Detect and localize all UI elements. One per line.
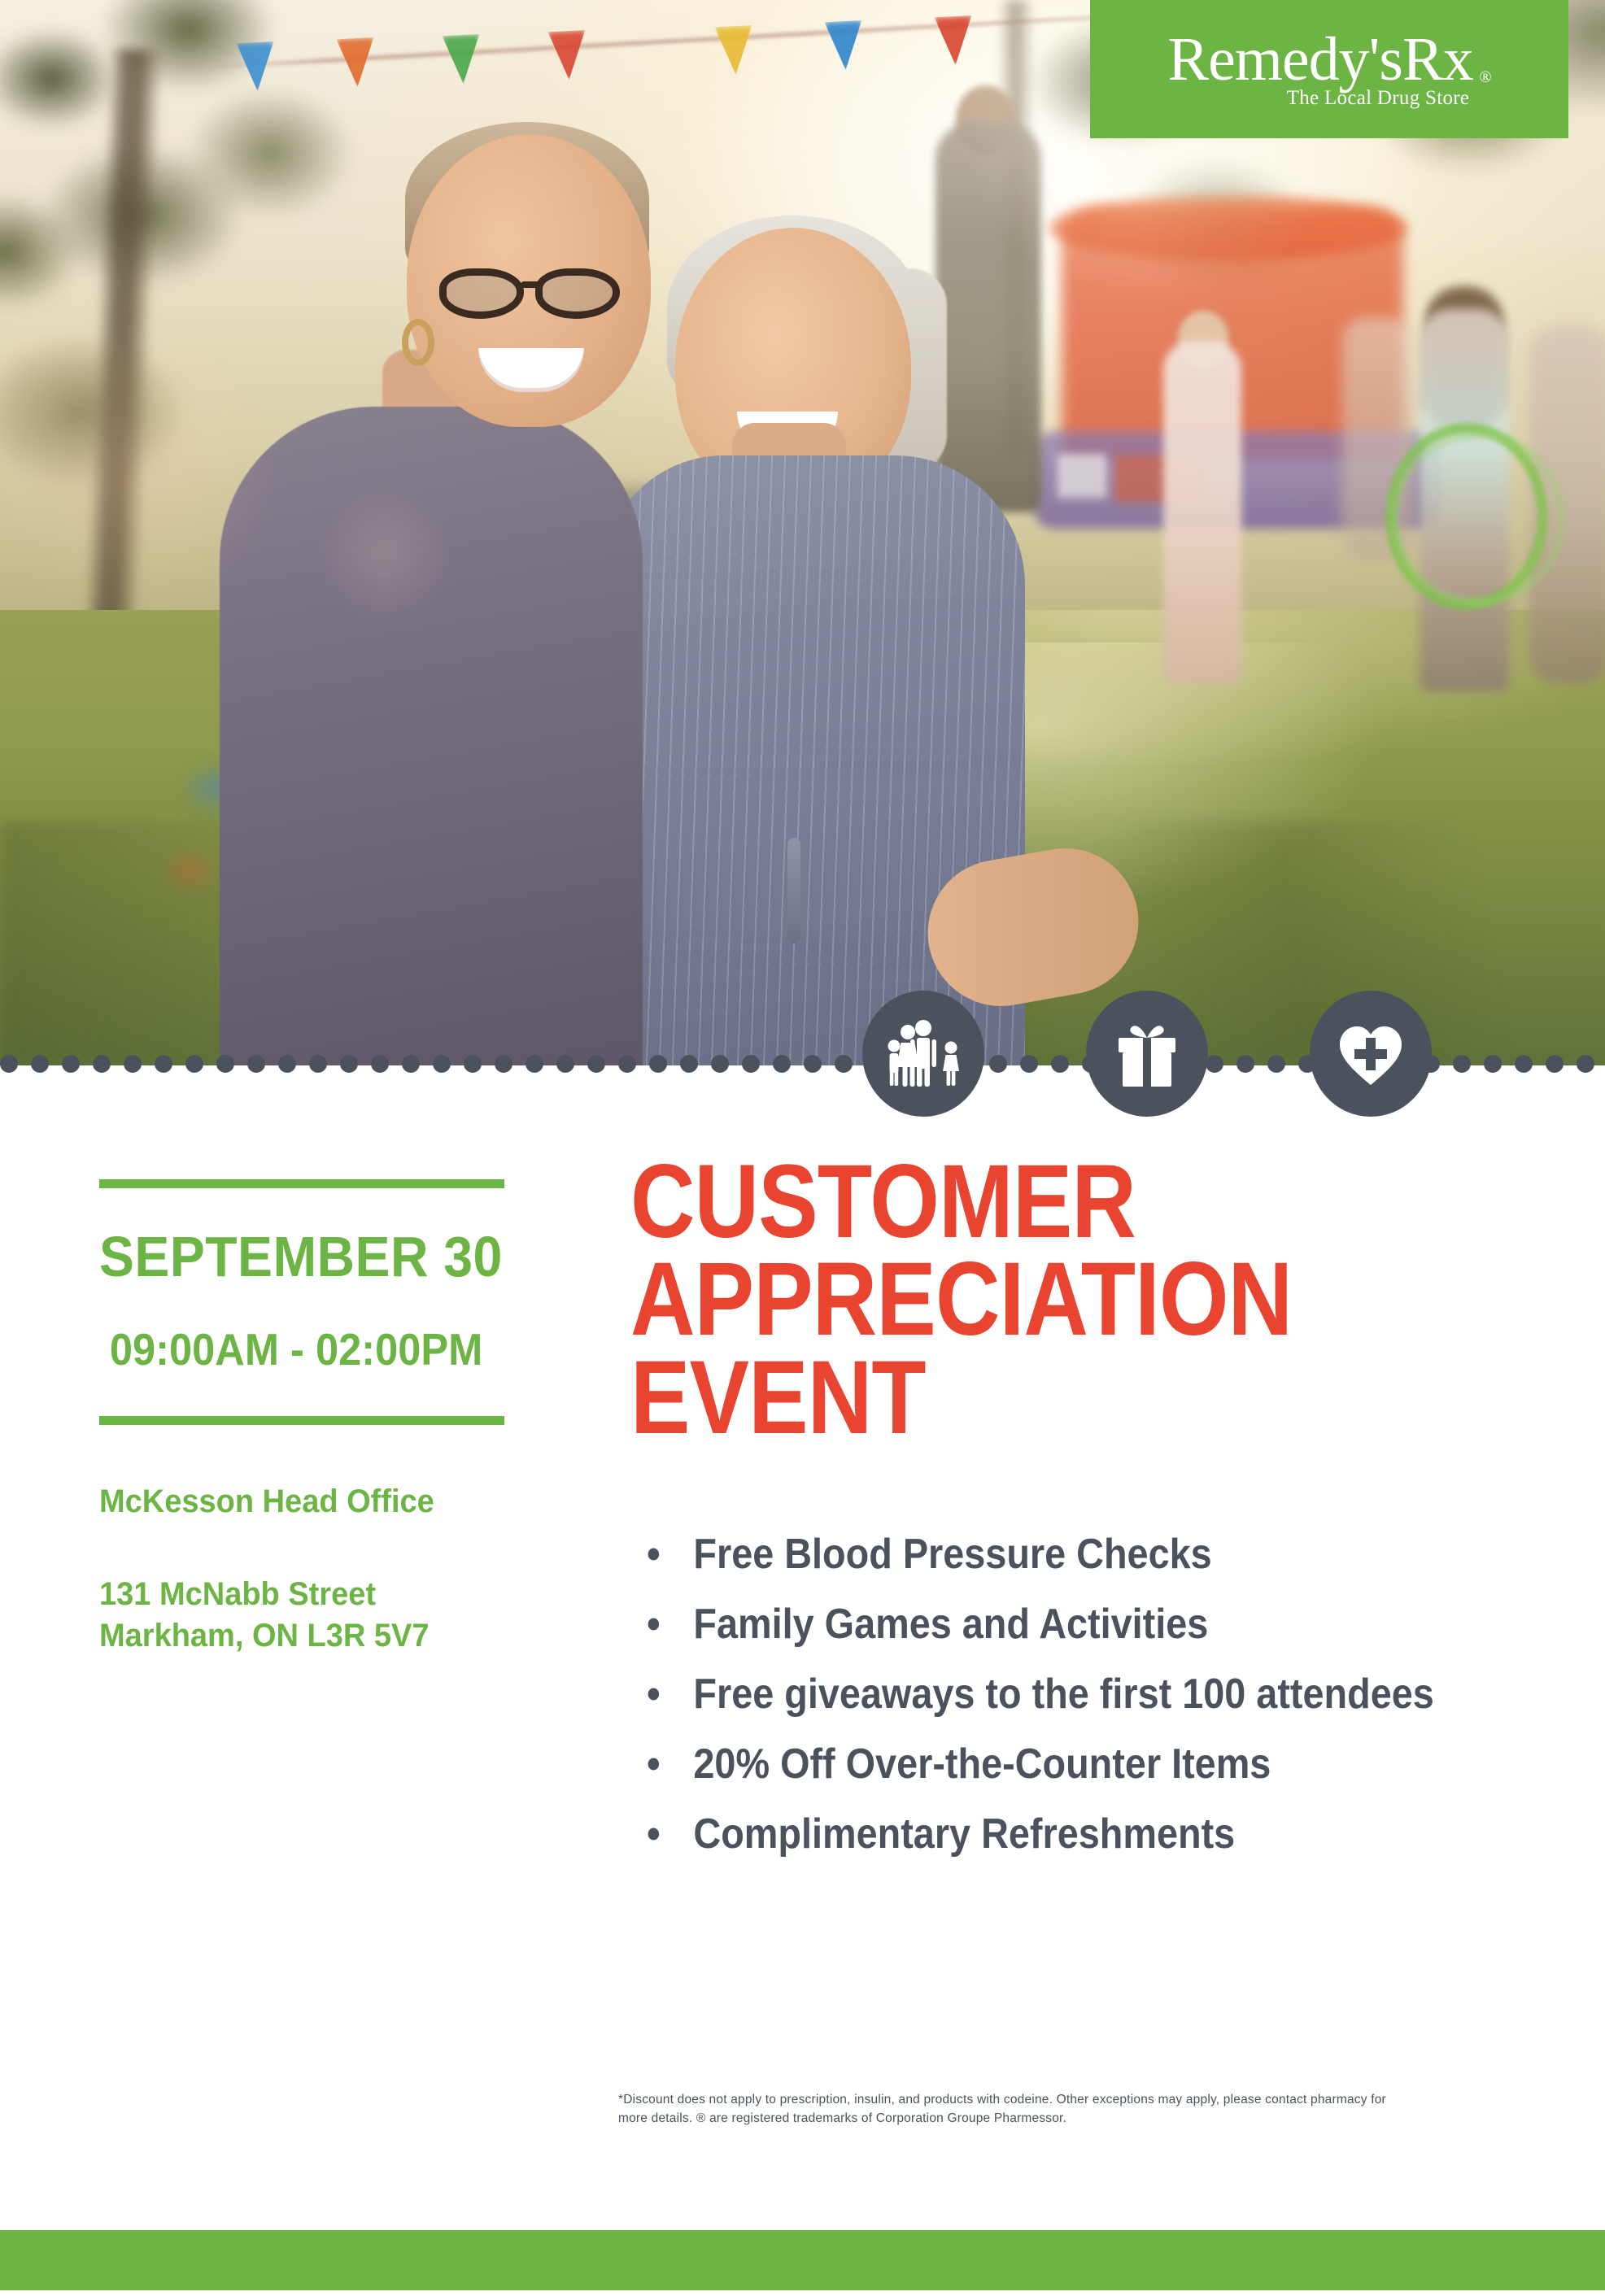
event-venue: McKesson Head Office — [99, 1483, 501, 1520]
list-item: Family Games and Activities — [630, 1603, 1436, 1645]
event-details-column: SEPTEMBER 30 09:00AM - 02:00PM McKesson … — [99, 1179, 522, 1657]
background-person-man — [936, 122, 1041, 512]
event-date: SEPTEMBER 30 — [99, 1224, 488, 1289]
divider-dot — [124, 1055, 142, 1073]
divider-dot — [1484, 1055, 1502, 1073]
blouse-tassel — [787, 838, 800, 943]
address-line-2: Markham, ON L3R 5V7 — [99, 1615, 501, 1657]
divider-dot — [340, 1055, 358, 1073]
headline-line-3: EVENT — [630, 1349, 1400, 1447]
divider-dot — [587, 1055, 605, 1073]
hoop-earring — [402, 319, 434, 366]
rule-top — [99, 1179, 504, 1188]
divider-dot — [526, 1055, 543, 1073]
list-item: Complimentary Refreshments — [630, 1813, 1436, 1855]
registered-trademark-icon: ® — [1479, 69, 1490, 85]
divider-dot — [0, 1055, 18, 1073]
divider-dot — [680, 1055, 698, 1073]
divider-dot — [278, 1055, 296, 1073]
legal-disclaimer: *Discount does not apply to prescription… — [618, 2090, 1399, 2128]
heart-plus-icon — [1310, 991, 1432, 1117]
divider-dot — [309, 1055, 327, 1073]
eyeglasses-icon — [439, 268, 643, 319]
family-icon — [862, 991, 984, 1117]
lens-flare-ring — [1391, 431, 1566, 606]
brand-logo-name: Remedy'sRx — [1167, 25, 1472, 94]
page-title: CUSTOMER APPRECIATION EVENT — [630, 1153, 1400, 1447]
divider-dot — [31, 1055, 49, 1073]
divider-dot — [495, 1055, 512, 1073]
footer-bar — [0, 2230, 1605, 2290]
divider-dot — [402, 1055, 420, 1073]
event-poster: Remedy'sRx® The Local Drug Store — [0, 0, 1605, 2296]
divider-dot — [742, 1055, 760, 1073]
address-line-1: 131 McNabb Street — [99, 1574, 501, 1615]
event-time: 09:00AM - 02:00PM — [99, 1323, 488, 1375]
feature-icon-row — [862, 991, 1432, 1129]
list-item: 20% Off Over-the-Counter Items — [630, 1743, 1436, 1785]
divider-dot — [1453, 1055, 1471, 1073]
event-headline-column: CUSTOMER APPRECIATION EVENT Free Blood P… — [630, 1153, 1525, 1883]
bounce-house-panel-white — [1058, 454, 1106, 498]
divider-dot — [93, 1055, 111, 1073]
woman-left-body — [220, 407, 643, 1065]
eyeglasses-lens-right — [535, 268, 620, 319]
background-person-girl — [1163, 342, 1241, 683]
eyeglasses-lens-left — [439, 268, 524, 319]
divider-dot — [464, 1055, 482, 1073]
brand-logo-wordmark: Remedy'sRx® — [1167, 28, 1490, 90]
list-item: Free giveaways to the first 100 attendee… — [630, 1673, 1436, 1715]
divider-dot — [649, 1055, 667, 1073]
divider-dot — [1546, 1055, 1564, 1073]
brand-logo: Remedy'sRx® The Local Drug Store — [1090, 0, 1568, 138]
divider-dot — [185, 1055, 203, 1073]
divider-dot — [62, 1055, 80, 1073]
divider-dot — [433, 1055, 451, 1073]
hero-photo — [0, 0, 1605, 1065]
divider-dot — [247, 1055, 265, 1073]
list-item: Free Blood Pressure Checks — [630, 1533, 1436, 1575]
poster-body: SEPTEMBER 30 09:00AM - 02:00PM McKesson … — [0, 1082, 1605, 2296]
event-features-list: Free Blood Pressure Checks Family Games … — [630, 1533, 1525, 1855]
divider-dot — [773, 1055, 791, 1073]
gift-icon — [1086, 991, 1208, 1117]
event-address: 131 McNabb Street Markham, ON L3R 5V7 — [99, 1574, 501, 1657]
divider-dot — [155, 1055, 172, 1073]
divider-dot — [711, 1055, 729, 1073]
headline-line-1: CUSTOMER — [630, 1153, 1400, 1251]
divider-dot — [804, 1055, 822, 1073]
divider-dot — [1577, 1055, 1594, 1073]
rule-bottom — [99, 1416, 504, 1425]
divider-dot — [556, 1055, 574, 1073]
headline-line-2: APPRECIATION — [630, 1251, 1400, 1348]
divider-dot — [1515, 1055, 1533, 1073]
divider-dot — [835, 1055, 853, 1073]
divider-dot — [216, 1055, 234, 1073]
divider-dot — [618, 1055, 636, 1073]
divider-dot — [371, 1055, 389, 1073]
